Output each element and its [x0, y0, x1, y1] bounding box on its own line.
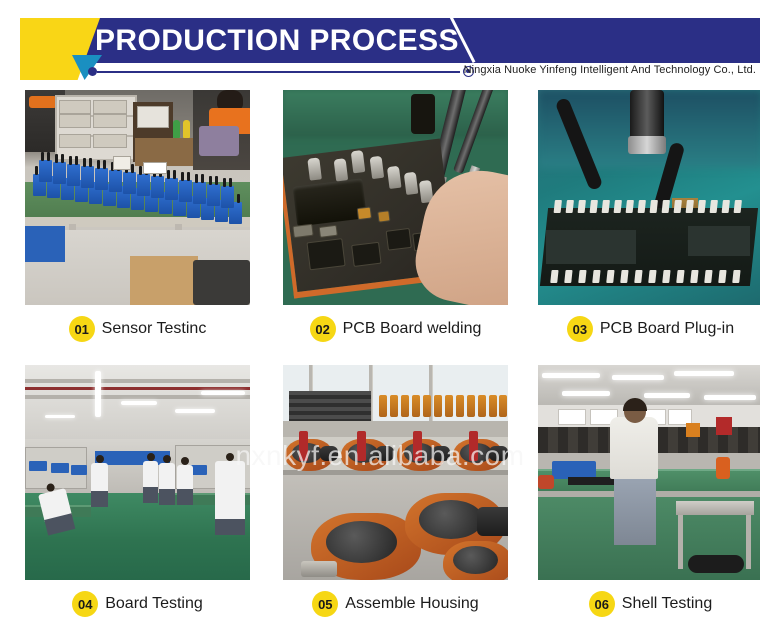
page-header: PRODUCTION PROCESS Ningxia Nuoke Yinfeng… — [0, 0, 760, 90]
step-caption-02: 02 PCB Board welding — [283, 316, 508, 342]
step-photo-05 — [283, 365, 508, 580]
process-grid: 01 Sensor Testinc — [0, 90, 760, 639]
step-photo-03 — [538, 90, 760, 305]
step-number-badge: 02 — [310, 316, 336, 342]
page-title: PRODUCTION PROCESS — [95, 22, 459, 60]
process-step-04[interactable]: 04 Board Testing — [25, 365, 250, 617]
step-caption-06: 06 Shell Testing — [538, 591, 760, 617]
step-photo-06 — [538, 365, 760, 580]
process-step-01[interactable]: 01 Sensor Testinc — [25, 90, 250, 342]
process-step-03[interactable]: 03 PCB Board Plug-in — [538, 90, 760, 342]
step-label: Board Testing — [105, 595, 203, 613]
process-step-02[interactable]: 02 PCB Board welding — [283, 90, 508, 342]
step-label: Shell Testing — [622, 595, 712, 613]
step-label: Assemble Housing — [345, 595, 478, 613]
step-number-badge: 03 — [567, 316, 593, 342]
step-label: PCB Board Plug-in — [600, 320, 734, 338]
step-label: PCB Board welding — [343, 320, 482, 338]
step-number-badge: 06 — [589, 591, 615, 617]
step-photo-02 — [283, 90, 508, 305]
step-label: Sensor Testinc — [102, 320, 207, 338]
step-number-badge: 01 — [69, 316, 95, 342]
step-caption-04: 04 Board Testing — [25, 591, 250, 617]
step-photo-04 — [25, 365, 250, 580]
process-step-06[interactable]: 06 Shell Testing — [538, 365, 760, 617]
step-photo-01 — [25, 90, 250, 305]
step-number-badge: 04 — [72, 591, 98, 617]
step-caption-01: 01 Sensor Testinc — [25, 316, 250, 342]
header-divider-line — [97, 71, 460, 73]
process-step-05[interactable]: 05 Assemble Housing — [283, 365, 508, 617]
company-name: Ningxia Nuoke Yinfeng Intelligent And Te… — [464, 64, 756, 76]
bullet-dot-icon — [88, 67, 97, 76]
step-caption-05: 05 Assemble Housing — [283, 591, 508, 617]
step-number-badge: 05 — [312, 591, 338, 617]
step-caption-03: 03 PCB Board Plug-in — [538, 316, 760, 342]
